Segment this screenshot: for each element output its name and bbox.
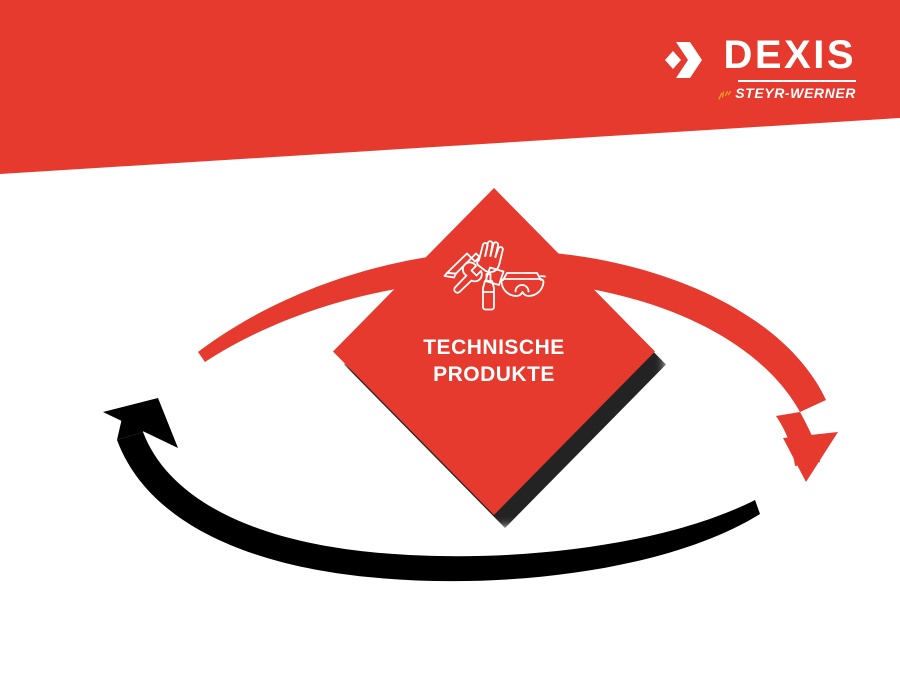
logo-subbrand-row: STEYR-WERNER	[716, 85, 856, 101]
dexis-logo[interactable]: DEXIS STEYR-WERNER	[656, 36, 856, 101]
slide-canvas: TECHNISCHE PRODUKTE DEXIS	[0, 0, 900, 675]
spark-icon	[716, 86, 732, 100]
logo-subbrand: STEYR-WERNER	[735, 85, 856, 101]
cycle-arrow-black-layer	[0, 0, 900, 675]
cycle-arrow-black	[103, 398, 760, 581]
logo-wordmark: DEXIS	[723, 36, 856, 75]
logo-text-block: DEXIS STEYR-WERNER	[716, 36, 856, 101]
dexis-chevron-mark-icon	[656, 40, 702, 80]
logo-divider-rule	[738, 80, 856, 82]
